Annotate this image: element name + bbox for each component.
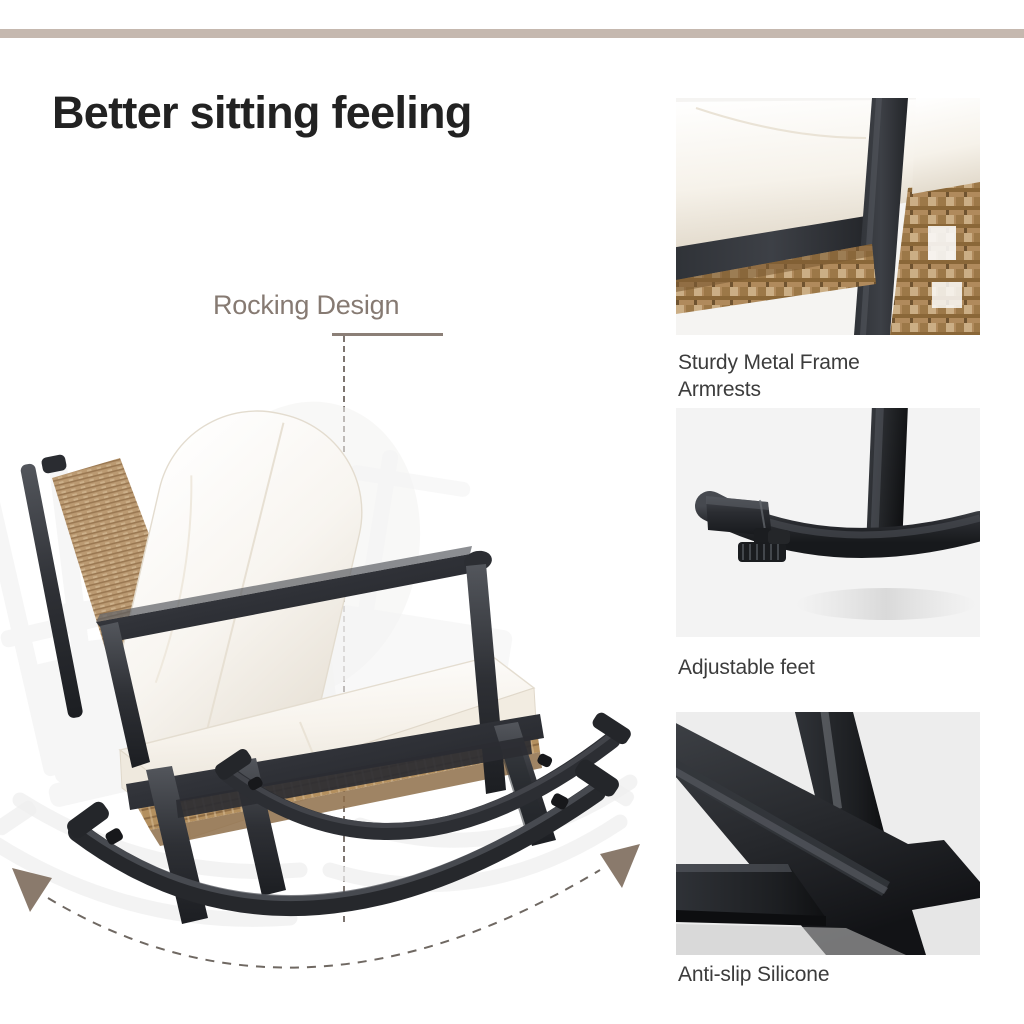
feature-photo-anti-slip-silicone xyxy=(676,712,980,955)
feature-caption-adjustable-feet: Adjustable feet xyxy=(678,655,815,682)
page-title: Better sitting feeling xyxy=(52,88,652,138)
feature-caption-sturdy-metal-frame-armrests: Sturdy Metal Frame Armrests xyxy=(678,350,860,404)
feature-caption-anti-slip-silicone: Anti-slip Silicone xyxy=(678,962,829,989)
rocking-design-underline xyxy=(332,333,443,336)
rocking-design-label: Rocking Design xyxy=(213,290,399,321)
feature-photo-sturdy-metal-frame-armrests xyxy=(676,98,980,335)
rock-direction-arrow-right xyxy=(600,844,640,888)
product-feature-infographic: Better sitting feeling Rocking Design xyxy=(0,0,1024,1024)
rocking-motion-arc xyxy=(0,760,680,1020)
rock-direction-arrow-left xyxy=(12,868,52,912)
feature-photo-adjustable-feet xyxy=(676,408,980,637)
feature-panel: Sturdy Metal Frame Armrests xyxy=(676,0,1024,1024)
